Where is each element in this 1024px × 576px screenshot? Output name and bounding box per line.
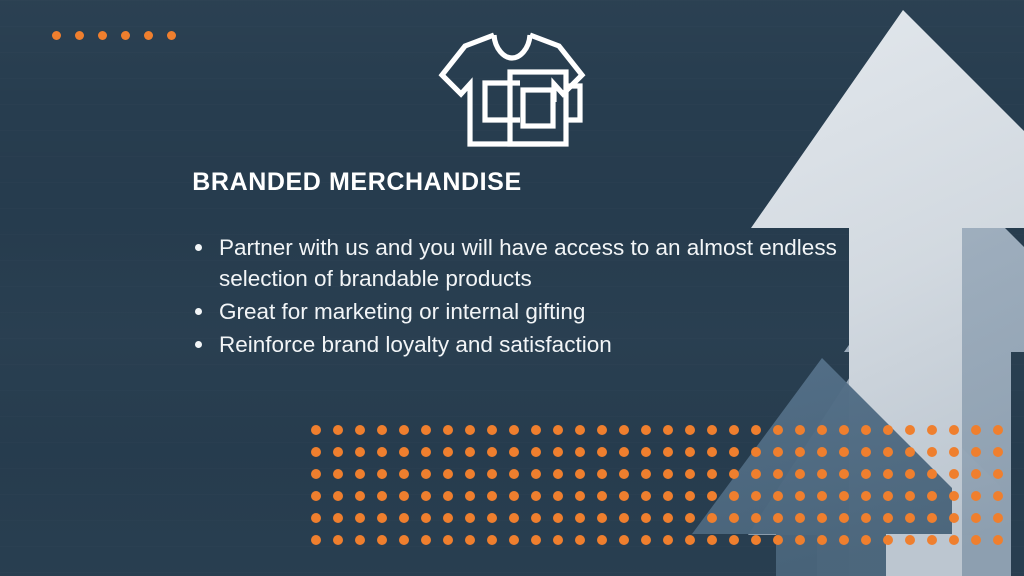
decor-dot (399, 513, 409, 523)
decor-dot (311, 469, 321, 479)
decor-dot (751, 491, 761, 501)
decor-dot (531, 491, 541, 501)
decor-dot-grid (311, 425, 1013, 551)
decor-dot (927, 535, 937, 545)
decor-dot (773, 491, 783, 501)
decor-dot (839, 469, 849, 479)
decor-dot (575, 513, 585, 523)
decor-dot (729, 513, 739, 523)
decor-dot (487, 491, 497, 501)
decor-dot (839, 447, 849, 457)
decor-dot (443, 491, 453, 501)
decor-dot (443, 425, 453, 435)
decor-dot (575, 535, 585, 545)
decor-dot (333, 469, 343, 479)
decor-dot (751, 425, 761, 435)
decor-dot (817, 535, 827, 545)
bullet-list: Partner with us and you will have access… (188, 232, 848, 362)
decor-dot (905, 469, 915, 479)
decor-dot (949, 491, 959, 501)
decor-dot (75, 31, 84, 40)
decor-dot (399, 469, 409, 479)
decor-dot (355, 535, 365, 545)
decor-dot (355, 425, 365, 435)
decor-dot (707, 447, 717, 457)
decor-dot (773, 425, 783, 435)
decor-dot (861, 425, 871, 435)
decor-dot (487, 535, 497, 545)
slide-canvas: BRANDED MERCHANDISE Partner with us and … (0, 0, 1024, 576)
list-item: Partner with us and you will have access… (188, 232, 848, 294)
decor-dot (685, 535, 695, 545)
decor-dot (751, 469, 761, 479)
decor-dot (121, 31, 130, 40)
decor-dot (817, 469, 827, 479)
decor-dot (509, 425, 519, 435)
decor-dot (52, 31, 61, 40)
decor-dot (531, 447, 541, 457)
decor-dot (597, 491, 607, 501)
decor-dot (597, 425, 607, 435)
decor-dot (355, 513, 365, 523)
decor-dot (795, 469, 805, 479)
decor-dot (905, 513, 915, 523)
decor-dot (641, 469, 651, 479)
decor-dot (861, 469, 871, 479)
decor-dot (993, 491, 1003, 501)
decor-dot (927, 491, 937, 501)
decor-dot (311, 447, 321, 457)
decor-dot (795, 447, 805, 457)
decor-dot (597, 469, 607, 479)
decor-dot (839, 513, 849, 523)
decor-dot (861, 513, 871, 523)
decor-dot (861, 491, 871, 501)
decor-dot (971, 535, 981, 545)
decor-dot (465, 491, 475, 501)
decor-dot (927, 447, 937, 457)
decor-dot (883, 469, 893, 479)
decor-dot (377, 425, 387, 435)
decor-dot (553, 425, 563, 435)
decor-dot (883, 447, 893, 457)
decor-dot (377, 447, 387, 457)
decor-dot (553, 513, 563, 523)
decor-dot (993, 425, 1003, 435)
decor-dot (443, 513, 453, 523)
decor-dot (421, 513, 431, 523)
decor-dot (707, 491, 717, 501)
decor-dot (971, 491, 981, 501)
decor-dot (773, 513, 783, 523)
decor-dot (839, 425, 849, 435)
decor-dot (883, 535, 893, 545)
decor-dot (311, 513, 321, 523)
decor-dot (729, 469, 739, 479)
decor-dot (905, 447, 915, 457)
decor-dot (619, 535, 629, 545)
decor-dot (531, 469, 541, 479)
list-item: Reinforce brand loyalty and satisfaction (188, 329, 848, 360)
decor-dot (377, 491, 387, 501)
decor-dot (531, 535, 541, 545)
decor-dot (861, 535, 871, 545)
decor-dot (465, 513, 475, 523)
decor-dot (465, 425, 475, 435)
decor-dot (487, 469, 497, 479)
decor-dot (377, 535, 387, 545)
decor-dot (399, 491, 409, 501)
decor-dot (465, 535, 475, 545)
decor-dot (619, 491, 629, 501)
decor-dot (465, 447, 475, 457)
decor-dot (443, 535, 453, 545)
decor-dot (773, 535, 783, 545)
decor-dot (795, 513, 805, 523)
decor-dot (927, 513, 937, 523)
decor-dot (971, 447, 981, 457)
decor-dot (619, 469, 629, 479)
decor-dot (685, 425, 695, 435)
decor-dot (685, 469, 695, 479)
decor-dot (443, 469, 453, 479)
decor-dot (575, 491, 585, 501)
decor-dot (993, 535, 1003, 545)
page-title: BRANDED MERCHANDISE (0, 168, 1024, 197)
decor-dot (333, 535, 343, 545)
decor-dot (729, 447, 739, 457)
decor-dot (707, 425, 717, 435)
decor-dot (355, 469, 365, 479)
decor-dot (509, 535, 519, 545)
decor-dot (971, 425, 981, 435)
decor-dot (641, 491, 651, 501)
decor-dot (707, 513, 717, 523)
list-item: Great for marketing or internal gifting (188, 296, 848, 327)
decor-dot (355, 447, 365, 457)
decor-dot (993, 469, 1003, 479)
decor-dot (663, 447, 673, 457)
decor-dot (333, 491, 343, 501)
decor-dot (949, 535, 959, 545)
decor-dot (751, 447, 761, 457)
decor-dot (311, 425, 321, 435)
decor-dot (949, 447, 959, 457)
decor-dot (795, 425, 805, 435)
decor-dot (927, 425, 937, 435)
decor-dot (575, 447, 585, 457)
decor-dot (399, 447, 409, 457)
decor-dot (949, 513, 959, 523)
tshirt-and-mug-icon (437, 28, 593, 150)
decor-dot (773, 469, 783, 479)
decor-dot (685, 513, 695, 523)
decor-dot (641, 425, 651, 435)
decor-dot (773, 447, 783, 457)
decor-dot (663, 425, 673, 435)
decor-dot (421, 491, 431, 501)
decor-dot (971, 469, 981, 479)
decor-dot (839, 491, 849, 501)
decor-dot (597, 447, 607, 457)
decor-dot (949, 469, 959, 479)
decor-dot (575, 469, 585, 479)
decor-dot (971, 513, 981, 523)
decor-dot (597, 513, 607, 523)
decor-dot (465, 469, 475, 479)
decor-dot (487, 425, 497, 435)
decor-dot (377, 513, 387, 523)
decor-dot (927, 469, 937, 479)
decor-dot (729, 425, 739, 435)
decor-dot (795, 491, 805, 501)
decor-dot (993, 513, 1003, 523)
decor-dot (333, 513, 343, 523)
decor-dot (641, 535, 651, 545)
decor-dot (817, 447, 827, 457)
decor-dot (377, 469, 387, 479)
decor-dot (663, 469, 673, 479)
decor-dot (707, 469, 717, 479)
decor-dot (817, 513, 827, 523)
decor-dot (575, 425, 585, 435)
decor-dot (883, 513, 893, 523)
decor-dot (751, 535, 761, 545)
decor-dot (619, 447, 629, 457)
decor-dot (663, 535, 673, 545)
decor-dot (333, 447, 343, 457)
decor-dot (619, 513, 629, 523)
decor-dot (905, 535, 915, 545)
decor-dot (817, 491, 827, 501)
decor-dot (311, 535, 321, 545)
decor-dot (641, 513, 651, 523)
decor-dot-row (52, 31, 176, 40)
decor-dot (421, 425, 431, 435)
decor-dot (509, 491, 519, 501)
decor-dot (311, 491, 321, 501)
decor-dot (421, 469, 431, 479)
decor-dot (949, 425, 959, 435)
decor-dot (509, 513, 519, 523)
decor-dot (531, 425, 541, 435)
decor-dot (443, 447, 453, 457)
decor-dot (509, 469, 519, 479)
decor-dot (333, 425, 343, 435)
decor-dot (795, 535, 805, 545)
decor-dot (839, 535, 849, 545)
decor-dot (905, 425, 915, 435)
decor-dot (553, 535, 563, 545)
decor-dot (509, 447, 519, 457)
decor-dot (685, 491, 695, 501)
decor-dot (883, 491, 893, 501)
decor-dot (861, 447, 871, 457)
decor-dot (707, 535, 717, 545)
decor-dot (597, 535, 607, 545)
decor-dot (531, 513, 541, 523)
decor-dot (487, 447, 497, 457)
decor-dot (144, 31, 153, 40)
decor-dot (553, 469, 563, 479)
decor-dot (487, 513, 497, 523)
decor-dot (355, 491, 365, 501)
decor-dot (399, 425, 409, 435)
decor-dot (98, 31, 107, 40)
decor-dot (421, 447, 431, 457)
decor-dot (993, 447, 1003, 457)
decor-dot (751, 513, 761, 523)
decor-dot (817, 425, 827, 435)
decor-dot (399, 535, 409, 545)
decor-dot (685, 447, 695, 457)
decor-dot (421, 535, 431, 545)
decor-dot (905, 491, 915, 501)
decor-dot (663, 513, 673, 523)
decor-dot (553, 447, 563, 457)
decor-dot (729, 491, 739, 501)
decor-dot (619, 425, 629, 435)
decor-dot (729, 535, 739, 545)
decor-dot (553, 491, 563, 501)
decor-dot (641, 447, 651, 457)
decor-dot (663, 491, 673, 501)
decor-dot (167, 31, 176, 40)
decor-dot (883, 425, 893, 435)
